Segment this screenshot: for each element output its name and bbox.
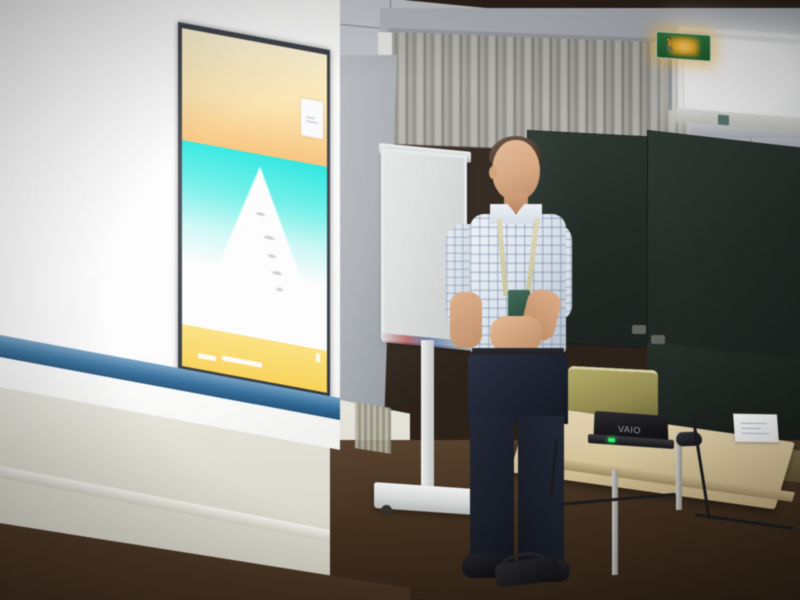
running-figure-icon: 🚶 (662, 37, 673, 54)
exit-sign-post (668, 55, 672, 110)
emergency-exit-sign: 🚶 (656, 31, 711, 62)
presenter-left-forearm (450, 292, 482, 348)
flipchart-caster-left (381, 505, 392, 516)
presenter-hands (490, 316, 542, 352)
partition-handle-right[interactable] (651, 335, 665, 344)
table-leg-front-right (612, 470, 618, 575)
radiator (355, 402, 391, 454)
presentation-slide (182, 28, 327, 393)
presenter-ear (489, 166, 497, 179)
partition-handle-left[interactable] (632, 325, 646, 334)
laptop-power-led-icon (608, 438, 615, 442)
slide-accent-dot (316, 353, 320, 363)
slide-card (301, 98, 323, 139)
paper-sheet (733, 414, 779, 443)
conference-room-photo: 🚶 (0, 0, 800, 600)
presenter-head (492, 140, 540, 200)
presenter-left-leg (470, 416, 514, 566)
pyramid-shape (208, 157, 312, 308)
presenter-hips (468, 354, 568, 424)
